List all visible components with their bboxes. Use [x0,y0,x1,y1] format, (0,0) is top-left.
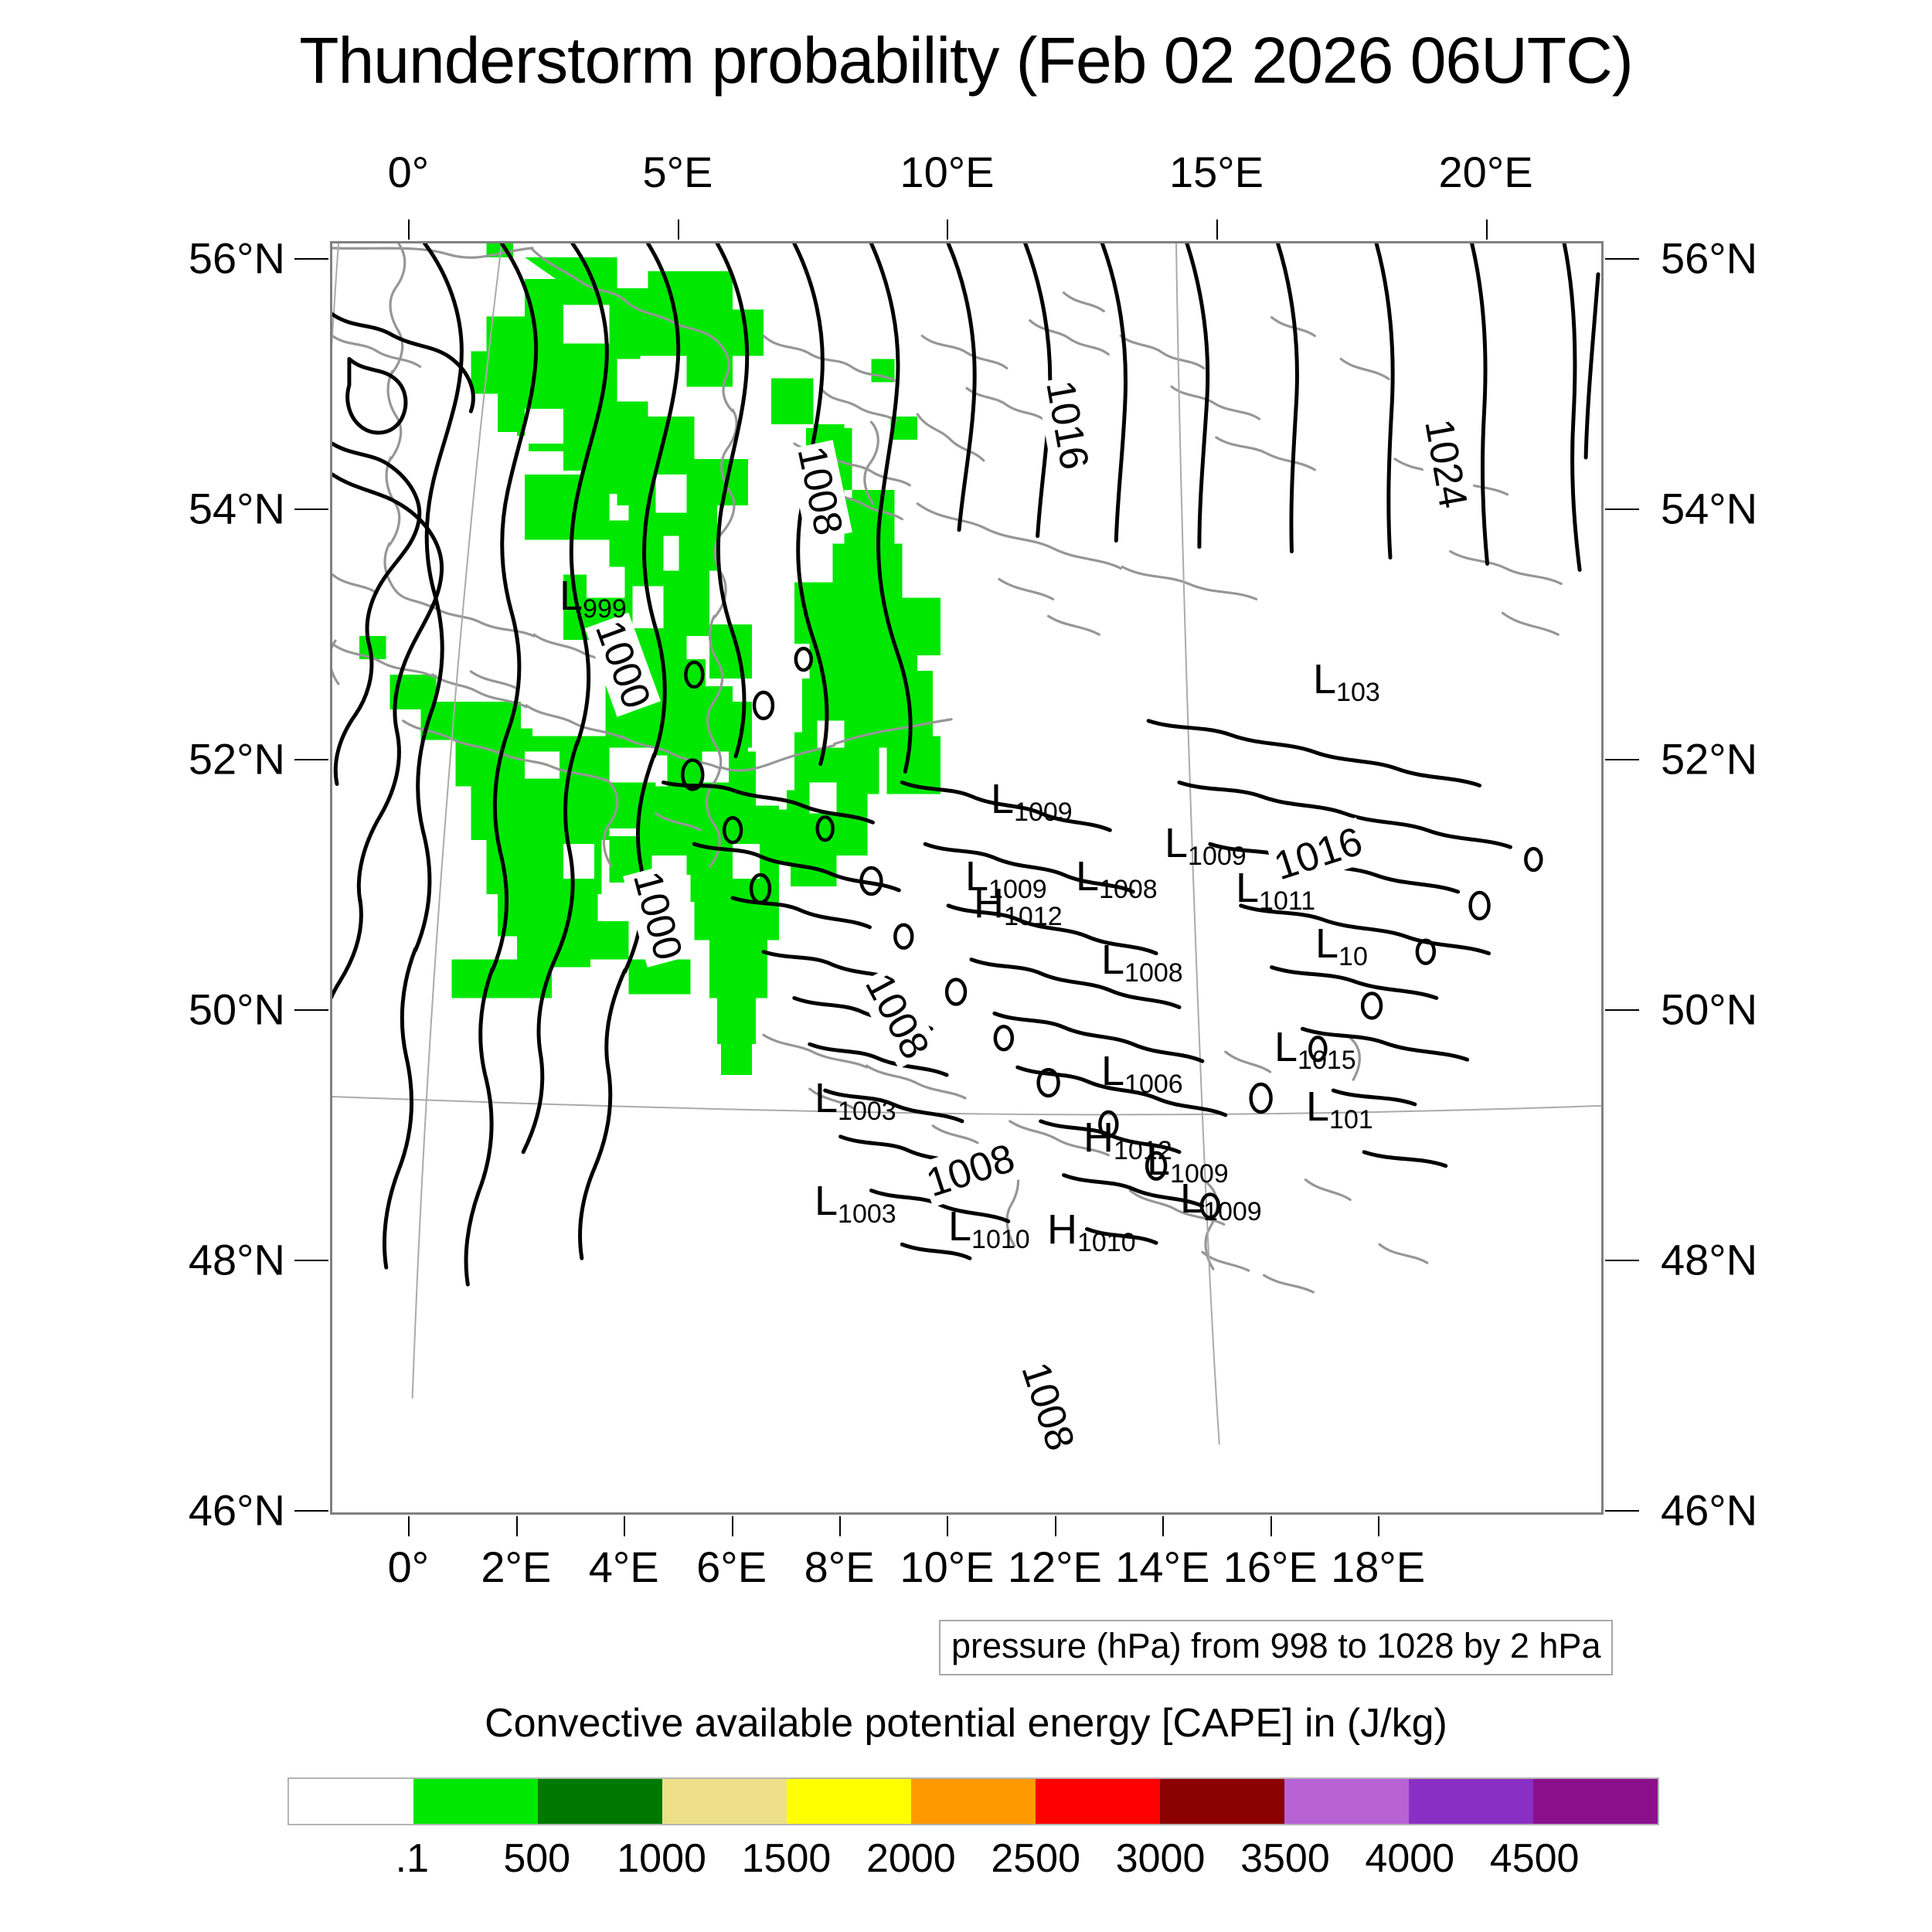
lon-tickmark-bottom-5 [947,1516,948,1536]
lon-tick-top-0: 0° [388,147,430,197]
pressure-center-type: L [560,573,583,619]
lon-tick-bottom-2: 4°E [589,1542,659,1592]
pressure-center-type: H [974,880,1004,927]
colorbar-swatch-7[interactable] [1160,1779,1284,1824]
colorbar-label-4: 2000 [866,1835,956,1882]
lon-tick-bottom-5: 10°E [900,1542,994,1592]
pressure-center-low-4: L1008 [1076,855,1158,897]
pressure-center-value: 1009 [1014,798,1073,827]
lon-tickmark-bottom-8 [1270,1516,1272,1536]
colorbar-swatch-8[interactable] [1284,1779,1409,1824]
pressure-center-type: L [1306,1083,1329,1130]
pressure-center-type: H [1083,1114,1114,1161]
lon-tickmark-bottom-1 [516,1516,518,1536]
pressure-center-low-8: L103 [1313,658,1380,700]
lon-tick-top-3: 15°E [1169,147,1264,197]
colorbar-swatch-5[interactable] [911,1779,1036,1824]
colorbar-label-6: 3000 [1116,1835,1206,1882]
lat-tickmark-right-1 [1605,509,1639,510]
pressure-center-type: L [1147,1138,1170,1184]
pressure-center-low-2: L1009 [1165,822,1247,864]
lat-tick-left-3: 50°N [189,985,285,1035]
pressure-center-value: 1008 [1099,875,1158,904]
pressure-center-low-18: L1010 [948,1206,1030,1247]
colorbar-label-5: 2500 [991,1835,1080,1882]
lon-tickmark-bottom-7 [1162,1516,1164,1536]
lon-tickmark-top-3 [1216,219,1218,240]
lat-tickmark-left-4 [294,1260,328,1261]
colorbar-swatch-1[interactable] [413,1779,538,1824]
colorbar-swatch-0[interactable] [289,1779,413,1824]
pressure-center-low-7: L1008 [1101,939,1183,981]
pressure-center-value: 1003 [838,1199,896,1229]
lon-tick-top-2: 10°E [900,147,994,197]
pressure-center-type: L [1076,853,1099,900]
lat-tickmark-left-2 [294,759,328,760]
pressure-center-value: 1009 [1203,1197,1262,1226]
lat-tickmark-right-3 [1605,1009,1639,1011]
pressure-center-low-5: L1011 [1236,867,1315,909]
lat-tickmark-left-1 [294,509,328,510]
pressure-center-low-9: L10 [1315,923,1368,964]
pressure-center-type: L [1180,1175,1203,1222]
pressure-center-type: L [1274,1024,1298,1070]
lon-tickmark-bottom-0 [408,1516,410,1536]
lat-tick-right-1: 54°N [1661,484,1757,534]
lat-tickmark-left-5 [294,1510,328,1512]
pressure-center-type: H [1047,1206,1077,1253]
lat-tickmark-right-4 [1605,1260,1639,1261]
pressure-center-type: L [815,1075,838,1121]
lon-tickmark-bottom-9 [1378,1516,1379,1536]
lon-tickmark-top-1 [678,219,679,240]
pressure-center-value: 1011 [1259,886,1315,916]
cape-colorbar-labels: .150010001500200025003000350040004500 [287,1835,1659,1889]
pressure-center-type: L [1313,656,1336,702]
lat-tick-left-5: 46°N [189,1485,285,1536]
pressure-center-type: L [991,776,1014,822]
colorbar-label-0: .1 [396,1835,429,1882]
pressure-center-low-13: L1003 [815,1077,896,1119]
lon-tickmark-bottom-4 [839,1516,841,1536]
pressure-center-type: L [815,1178,838,1224]
lat-tickmark-right-2 [1605,759,1639,760]
lat-tickmark-left-0 [294,258,328,260]
pressure-center-low-0: L999 [560,575,627,617]
colorbar-label-2: 1000 [617,1835,706,1882]
lon-tickmark-top-2 [947,219,948,240]
lon-tick-top-1: 5°E [642,147,713,197]
lat-tickmark-left-3 [294,1009,328,1011]
pressure-center-type: L [1101,937,1124,983]
pressure-center-low-10: L1015 [1274,1026,1356,1068]
colorbar-swatch-6[interactable] [1036,1779,1160,1824]
lon-tick-bottom-1: 2°E [481,1542,551,1592]
pressure-caption: pressure (hPa) from 998 to 1028 by 2 hPa [939,1620,1613,1675]
lon-tickmark-bottom-2 [624,1516,625,1536]
pressure-center-value: 999 [583,594,627,624]
pressure-center-low-14: L1003 [815,1180,896,1222]
lon-tick-bottom-6: 12°E [1008,1542,1102,1592]
lat-tick-left-2: 52°N [189,734,285,784]
lat-tick-right-3: 50°N [1661,985,1757,1035]
pressure-center-value: 1012 [1004,902,1063,931]
pressure-center-high-19: H1010 [1047,1209,1136,1250]
lon-tickmark-bottom-6 [1055,1516,1056,1536]
lat-tick-left-1: 54°N [189,484,285,534]
pressure-center-value: 103 [1336,678,1380,707]
colorbar-label-1: 500 [503,1835,570,1882]
lat-tick-right-5: 46°N [1661,1485,1757,1536]
pressure-center-low-12: L101 [1306,1086,1373,1128]
colorbar-swatch-9[interactable] [1409,1779,1533,1824]
pressure-center-type: L [1101,1048,1124,1094]
lon-tick-bottom-3: 6°E [696,1542,767,1592]
lat-tick-right-0: 56°N [1661,233,1757,284]
colorbar-swatch-2[interactable] [538,1779,662,1824]
pressure-center-low-17: L1009 [1180,1178,1262,1219]
colorbar-label-3: 1500 [742,1835,832,1882]
pressure-center-low-11: L1006 [1101,1050,1183,1092]
lat-tick-left-4: 48°N [189,1235,285,1285]
colorbar-swatch-4[interactable] [787,1779,911,1824]
lon-tickmark-top-0 [408,219,410,240]
colorbar-label-8: 4000 [1365,1835,1454,1882]
pressure-center-low-1: L1009 [991,778,1073,820]
lon-tickmark-top-4 [1486,219,1488,240]
colorbar-swatch-3[interactable] [662,1779,787,1824]
lon-tick-bottom-8: 16°E [1223,1542,1318,1592]
lon-tick-top-4: 20°E [1439,147,1533,197]
pressure-center-value: 1010 [971,1225,1030,1254]
colorbar-title: Convective available potential energy [C… [0,1700,1932,1747]
lat-tick-right-4: 48°N [1661,1235,1757,1285]
lat-tickmark-right-5 [1605,1510,1639,1512]
pressure-center-value: 1010 [1077,1228,1136,1257]
colorbar-swatch-10[interactable] [1533,1779,1658,1824]
pressure-center-value: 1003 [838,1097,896,1126]
pressure-center-type: L [1165,820,1188,866]
page-title: Thunderstorm probability (Feb 02 2026 06… [0,23,1932,98]
lat-tick-left-0: 56°N [189,233,285,284]
pressure-center-value: 1008 [1124,958,1183,988]
lon-tick-bottom-4: 8°E [804,1542,875,1592]
pressure-center-value: 1006 [1124,1070,1183,1099]
pressure-center-value: 101 [1329,1105,1373,1134]
colorbar-label-7: 3500 [1240,1835,1330,1882]
lon-tickmark-bottom-3 [732,1516,733,1536]
pressure-center-type: L [1236,865,1259,911]
pressure-center-value: 10 [1338,942,1368,971]
pressure-center-high-6: H1012 [974,883,1063,924]
pressure-center-type: L [1315,920,1338,967]
pressure-center-type: L [948,1203,971,1250]
lon-tick-bottom-0: 0° [388,1542,430,1592]
cape-colorbar[interactable] [287,1777,1659,1825]
lat-tickmark-right-0 [1605,258,1639,260]
colorbar-label-9: 4500 [1490,1835,1580,1882]
lon-tick-bottom-7: 14°E [1115,1542,1209,1592]
pressure-center-value: 1015 [1298,1046,1356,1075]
lon-tick-bottom-9: 18°E [1331,1542,1425,1592]
lat-tick-right-2: 52°N [1661,734,1757,784]
